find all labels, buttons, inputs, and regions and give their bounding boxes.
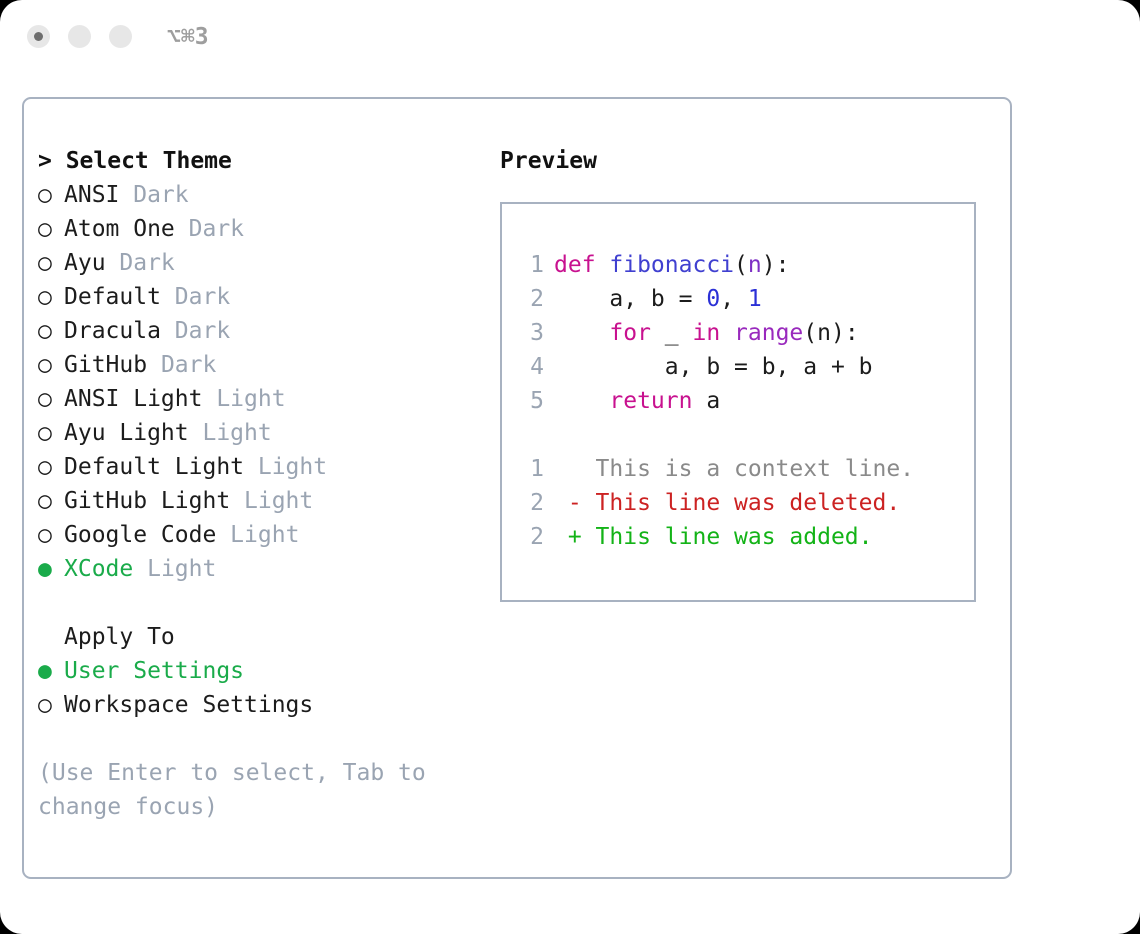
- code-token: 1: [748, 286, 762, 312]
- diff-line-text: + This line was added.: [554, 524, 873, 550]
- radio-unselected-icon: ○: [38, 246, 64, 280]
- code-line: 5 return a: [516, 384, 974, 418]
- code-token: def: [554, 252, 609, 278]
- theme-option-tag: Light: [133, 556, 216, 582]
- theme-option-dracula[interactable]: ○Dracula Dark: [38, 314, 478, 348]
- radio-unselected-icon: ○: [38, 416, 64, 450]
- theme-option-label: Google Code: [64, 522, 216, 548]
- apply-to-list: ●User Settings○Workspace Settings: [38, 654, 478, 722]
- theme-option-google-code[interactable]: ○Google Code Light: [38, 518, 478, 552]
- theme-option-tag: Dark: [161, 318, 230, 344]
- radio-unselected-icon: ○: [38, 382, 64, 416]
- theme-option-label: Ayu Light: [64, 420, 189, 446]
- code-line: 3 for _ in range(n):: [516, 316, 974, 350]
- spacer: [516, 418, 974, 452]
- theme-option-label: GitHub: [64, 352, 147, 378]
- keyboard-shortcut-label: ⌥⌘3: [167, 24, 209, 51]
- theme-option-ansi[interactable]: ○ANSI Dark: [38, 178, 478, 212]
- radio-unselected-icon: ○: [38, 484, 64, 518]
- theme-selector-column: > Select Theme ○ANSI Dark○Atom One Dark○…: [38, 144, 478, 824]
- code-token: (: [734, 252, 748, 278]
- diff-line-ctx: 1 This is a context line.: [516, 452, 974, 486]
- radio-unselected-icon: ○: [38, 518, 64, 552]
- theme-option-ayu[interactable]: ○Ayu Dark: [38, 246, 478, 280]
- radio-selected-icon: ●: [38, 552, 64, 586]
- theme-option-tag: Light: [189, 420, 272, 446]
- theme-option-tag: Dark: [175, 216, 244, 242]
- theme-option-tag: Light: [216, 522, 299, 548]
- app-window: ⌥⌘3 > Select Theme ○ANSI Dark○Atom One D…: [0, 0, 1140, 934]
- apply-to-option-user-settings[interactable]: ●User Settings: [38, 654, 478, 688]
- theme-option-tag: Light: [202, 386, 285, 412]
- line-number: 2: [516, 486, 544, 520]
- main-panel: > Select Theme ○ANSI Dark○Atom One Dark○…: [22, 97, 1012, 879]
- radio-selected-icon: ●: [38, 654, 64, 688]
- window-dot-3[interactable]: [109, 25, 132, 48]
- keyboard-hint: (Use Enter to select, Tab to change focu…: [38, 756, 438, 824]
- code-token: ):: [762, 252, 790, 278]
- select-theme-header: > Select Theme: [38, 144, 478, 178]
- spacer: [38, 586, 478, 620]
- theme-option-label: GitHub Light: [64, 488, 230, 514]
- theme-option-atom-one[interactable]: ○Atom One Dark: [38, 212, 478, 246]
- theme-option-label: ANSI Light: [64, 386, 202, 412]
- apply-to-option-label: User Settings: [64, 658, 244, 684]
- apply-to-option-workspace-settings[interactable]: ○Workspace Settings: [38, 688, 478, 722]
- code-token: _: [651, 320, 693, 346]
- code-token: n: [748, 252, 762, 278]
- window-dot-active-inner: [34, 32, 43, 41]
- theme-option-tag: Dark: [119, 182, 188, 208]
- code-token: (n):: [803, 320, 858, 346]
- diff-line-del: 2 - This line was deleted.: [516, 486, 974, 520]
- theme-option-label: Atom One: [64, 216, 175, 242]
- radio-unselected-icon: ○: [38, 280, 64, 314]
- radio-unselected-icon: ○: [38, 178, 64, 212]
- code-token: fibonacci: [609, 252, 734, 278]
- code-token: a: [692, 388, 720, 414]
- window-dot-2[interactable]: [68, 25, 91, 48]
- code-block: 1def fibonacci(n):2 a, b = 0, 13 for _ i…: [516, 248, 974, 418]
- line-number: 4: [516, 350, 544, 384]
- radio-unselected-icon: ○: [38, 212, 64, 246]
- preview-box: 1def fibonacci(n):2 a, b = 0, 13 for _ i…: [500, 202, 976, 602]
- line-number: 3: [516, 316, 544, 350]
- theme-option-label: ANSI: [64, 182, 119, 208]
- code-token: [554, 388, 609, 414]
- theme-option-default-light[interactable]: ○Default Light Light: [38, 450, 478, 484]
- radio-unselected-icon: ○: [38, 450, 64, 484]
- radio-unselected-icon: ○: [38, 688, 64, 722]
- theme-option-github[interactable]: ○GitHub Dark: [38, 348, 478, 382]
- code-token: return: [609, 388, 692, 414]
- theme-option-tag: Dark: [106, 250, 175, 276]
- theme-option-label: Dracula: [64, 318, 161, 344]
- preview-column: Preview 1def fibonacci(n):2 a, b = 0, 13…: [500, 144, 1000, 602]
- theme-option-default[interactable]: ○Default Dark: [38, 280, 478, 314]
- line-number: 2: [516, 520, 544, 554]
- code-token: [720, 320, 734, 346]
- theme-option-github-light[interactable]: ○GitHub Light Light: [38, 484, 478, 518]
- theme-option-tag: Light: [244, 454, 327, 480]
- apply-to-option-label: Workspace Settings: [64, 692, 313, 718]
- preview-title: Preview: [500, 144, 1000, 178]
- diff-line-add: 2 + This line was added.: [516, 520, 974, 554]
- code-token: a, b =: [554, 286, 706, 312]
- theme-option-xcode[interactable]: ●XCode Light: [38, 552, 478, 586]
- code-line: 4 a, b = b, a + b: [516, 350, 974, 384]
- apply-to-header: Apply To: [38, 620, 478, 654]
- diff-line-text: - This line was deleted.: [554, 490, 900, 516]
- code-token: ,: [720, 286, 748, 312]
- radio-unselected-icon: ○: [38, 314, 64, 348]
- code-token: a, b = b, a + b: [554, 354, 873, 380]
- radio-unselected-icon: ○: [38, 348, 64, 382]
- code-line: 2 a, b = 0, 1: [516, 282, 974, 316]
- window-controls: [27, 25, 132, 48]
- code-token: for: [609, 320, 651, 346]
- theme-option-label: Ayu: [64, 250, 106, 276]
- line-number: 1: [516, 452, 544, 486]
- code-token: 0: [706, 286, 720, 312]
- theme-option-ansi-light[interactable]: ○ANSI Light Light: [38, 382, 478, 416]
- theme-list: ○ANSI Dark○Atom One Dark○Ayu Dark○Defaul…: [38, 178, 478, 586]
- line-number: 1: [516, 248, 544, 282]
- theme-option-ayu-light[interactable]: ○Ayu Light Light: [38, 416, 478, 450]
- code-line: 1def fibonacci(n):: [516, 248, 974, 282]
- theme-option-tag: Dark: [161, 284, 230, 310]
- code-token: [554, 320, 609, 346]
- diff-block: 1 This is a context line.2 - This line w…: [516, 452, 974, 554]
- diff-line-text: This is a context line.: [554, 456, 914, 482]
- line-number: 2: [516, 282, 544, 316]
- theme-option-label: Default Light: [64, 454, 244, 480]
- window-dot-active[interactable]: [27, 25, 50, 48]
- title-bar: ⌥⌘3: [0, 0, 1140, 75]
- theme-option-label: XCode: [64, 556, 133, 582]
- theme-option-tag: Dark: [147, 352, 216, 378]
- line-number: 5: [516, 384, 544, 418]
- theme-option-label: Default: [64, 284, 161, 310]
- code-token: in: [692, 320, 720, 346]
- code-token: range: [734, 320, 803, 346]
- theme-option-tag: Light: [230, 488, 313, 514]
